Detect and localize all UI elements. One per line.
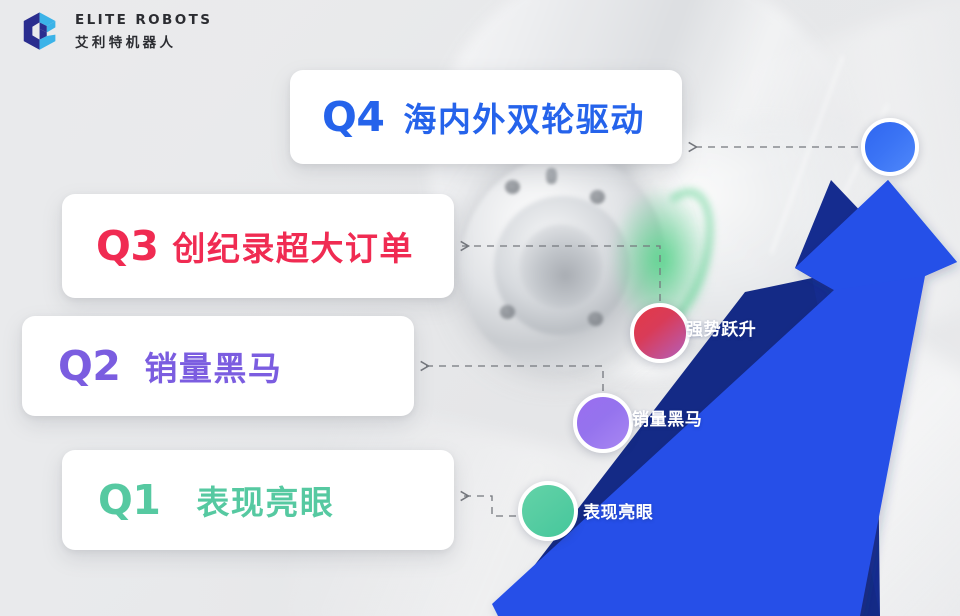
quarter-label-q1: Q1 xyxy=(98,476,160,524)
quarter-title-q3: 创纪录超大订单 xyxy=(172,222,414,270)
purple-milestone-dot[interactable] xyxy=(573,393,633,453)
slide-canvas: 强势跃升 销量黑马 表现亮眼 Q4 海内外双轮驱动 Q3 创纪录超大订单 Q2 … xyxy=(0,0,960,616)
brand-logo-text: ELITE ROBOTS 艾利特机器人 xyxy=(75,12,212,51)
green-milestone-dot[interactable] xyxy=(518,481,578,541)
quarter-label-q2: Q2 xyxy=(58,342,120,390)
quarter-card-q2[interactable]: Q2 销量黑马 xyxy=(22,316,414,416)
elite-robots-cube-logo-icon xyxy=(18,8,64,54)
quarter-title-q2: 销量黑马 xyxy=(144,342,282,390)
milestone-label-q3: 强势跃升 xyxy=(686,315,756,340)
quarter-card-q4[interactable]: Q4 海内外双轮驱动 xyxy=(290,70,682,164)
brand-name-en: ELITE ROBOTS xyxy=(75,12,212,28)
connector-q3 xyxy=(462,246,660,301)
blue-milestone-dot[interactable] xyxy=(861,118,919,176)
milestone-label-q2: 销量黑马 xyxy=(632,405,702,430)
quarter-title-q1: 表现亮眼 xyxy=(196,476,334,524)
quarter-label-q3: Q3 xyxy=(96,222,158,270)
quarter-label-q4: Q4 xyxy=(322,93,384,141)
brand-name-cn: 艾利特机器人 xyxy=(75,31,212,51)
milestone-label-q1: 表现亮眼 xyxy=(583,498,653,523)
red-milestone-dot[interactable] xyxy=(630,303,690,363)
brand-logo: ELITE ROBOTS 艾利特机器人 xyxy=(18,8,212,54)
connector-q2 xyxy=(422,366,603,391)
quarter-card-q3[interactable]: Q3 创纪录超大订单 xyxy=(62,194,454,298)
quarter-title-q4: 海内外双轮驱动 xyxy=(403,93,645,141)
connector-q1 xyxy=(462,496,516,516)
quarter-card-q1[interactable]: Q1 表现亮眼 xyxy=(62,450,454,550)
